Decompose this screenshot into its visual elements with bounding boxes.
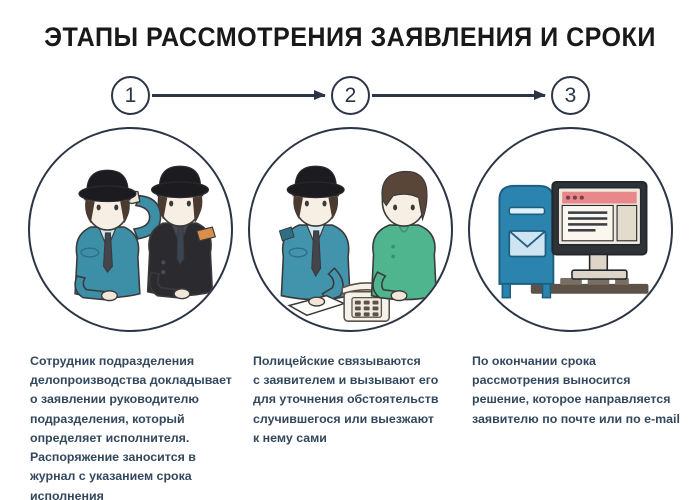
arrow-step2-to-step3 xyxy=(372,94,545,97)
panel-1-illustration xyxy=(28,127,233,332)
two-police-officers-icon xyxy=(30,129,231,330)
page-title: ЭТАПЫ РАССМОТРЕНИЯ ЗАЯВЛЕНИЯ И СРОКИ xyxy=(25,22,676,53)
step-number-2: 2 xyxy=(331,76,370,115)
caption-2: Полицейские связываются с заявителем и в… xyxy=(253,352,463,448)
panel-2-illustration xyxy=(248,127,453,332)
mailbox-computer-icon xyxy=(470,129,671,330)
infographic-page: ЭТАПЫ РАССМОТРЕНИЯ ЗАЯВЛЕНИЯ И СРОКИ 1 2… xyxy=(0,0,700,500)
step-number-3: 3 xyxy=(551,76,590,115)
step-strip: 1 2 3 xyxy=(0,76,700,116)
policeman-citizen-telephone-icon xyxy=(250,129,451,330)
panel-3-illustration xyxy=(468,127,673,332)
step-number-1: 1 xyxy=(111,76,150,115)
caption-1: Сотрудник подразделения делопроизводства… xyxy=(30,352,235,500)
arrow-step1-to-step2 xyxy=(152,94,325,97)
caption-3: По окончании срока рассмотрения выноситс… xyxy=(472,352,690,429)
